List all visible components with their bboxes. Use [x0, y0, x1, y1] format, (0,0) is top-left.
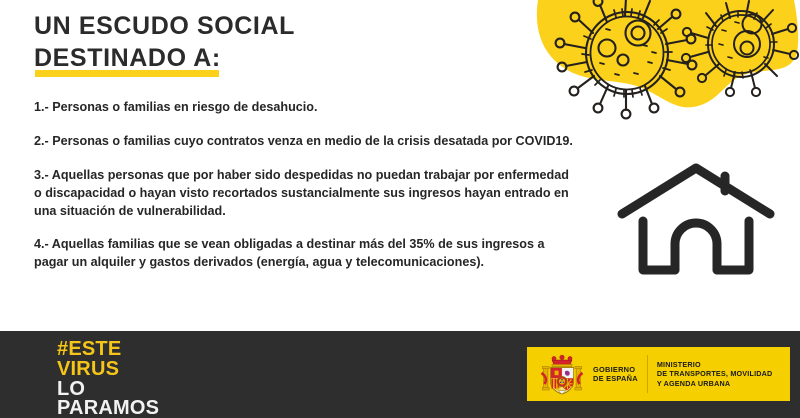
slogan-line: VIRUS	[57, 360, 159, 380]
logo-divider	[647, 355, 648, 393]
government-label: GOBIERNO DE ESPAÑA	[593, 365, 638, 384]
house-outline-icon	[612, 158, 780, 293]
list-item: 2.- Personas o familias cuyo contratos v…	[34, 133, 574, 151]
ministry-label: MINISTERIO DE TRANSPORTES, MOVILIDAD Y A…	[657, 360, 773, 389]
coronavirus-icon-small	[682, 1, 798, 96]
slogan-line: PARAMOS	[57, 399, 159, 418]
coronavirus-icon-large	[556, 0, 697, 118]
list-item: 4.- Aquellas familias que se vean obliga…	[34, 236, 574, 272]
government-logo: GOBIERNO DE ESPAÑA MINISTERIO DE TRANSPO…	[527, 347, 790, 401]
poster-canvas: Un escudo social destinado a: 1.- Person…	[0, 0, 800, 418]
list-item: 3.- Aquellas personas que por haber sido…	[34, 167, 574, 221]
spain-coat-of-arms-icon	[539, 351, 585, 397]
slogan-line: #ESTE	[57, 340, 159, 360]
campaign-slogan: #ESTE VIRUS LO PARAMOS UNIDOS	[57, 340, 159, 418]
title-underline-rule	[35, 70, 219, 77]
criteria-list: 1.- Personas o familias en riesgo de des…	[34, 99, 574, 272]
yellow-blob-shape	[537, 0, 798, 107]
page-title: Un escudo social destinado a:	[34, 10, 504, 74]
list-item: 1.- Personas o familias en riesgo de des…	[34, 99, 574, 117]
